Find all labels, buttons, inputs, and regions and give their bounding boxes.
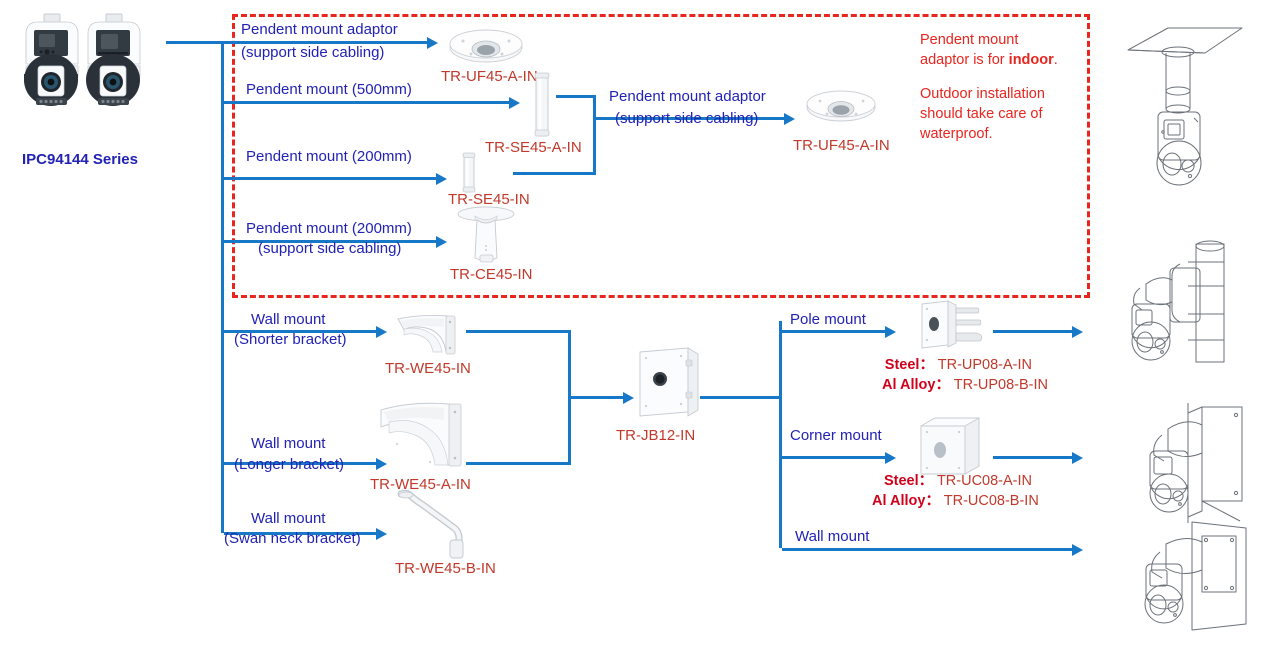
merge-top-line — [556, 95, 596, 98]
product-pole-mount — [918, 300, 986, 352]
branch-pendent-200-cable-label: Pendent mount (200mm) — [246, 220, 412, 238]
branch-wall-swan-label: Wall mount — [251, 510, 325, 528]
product-uf45a-mid — [805, 88, 877, 126]
branch-pendent-500-arrow — [509, 97, 520, 109]
pole-out-line — [993, 330, 1072, 333]
main-trunk-line — [221, 41, 224, 533]
pole-steel-value: TR-UP08-A-IN — [938, 357, 1032, 373]
product-jb12 — [636, 346, 702, 418]
branch-pendent-200-cable-arrow — [436, 236, 447, 248]
pole-alloy-value: TR-UP08-B-IN — [954, 377, 1048, 393]
corner-mount-line — [782, 456, 885, 459]
camera-illustration: uñv uñv — [8, 8, 168, 148]
se45a-pendant-tube-icon — [531, 72, 553, 138]
diagram-canvas: uñv uñv — [0, 0, 1271, 647]
ceiling-install-drawing — [1110, 20, 1260, 210]
merge-right-vline — [593, 95, 596, 175]
wall-mount-out-label: Wall mount — [795, 528, 869, 546]
label-ce45: TR-CE45-IN — [450, 266, 533, 284]
corner-out-arrow — [1072, 452, 1083, 464]
install-illustration-ceiling — [1110, 20, 1260, 210]
product-se45a — [531, 72, 553, 138]
branch-pendent-200-line — [224, 177, 436, 180]
product-we45b — [397, 490, 467, 560]
branch-wall-shorter-arrow — [376, 326, 387, 338]
note-line1a: Pendent mount — [920, 32, 1018, 48]
branch-wall-shorter-label: Wall mount — [251, 311, 325, 329]
jb12-in-arrow — [623, 392, 634, 404]
indoor-warning-note: Pendent mount adaptor is for indoor. Out… — [920, 30, 1080, 144]
se45-pendant-tube-icon — [459, 152, 479, 194]
wall-mount-out-line — [782, 548, 1072, 551]
we45a-out-line — [466, 462, 570, 465]
wall-mount-out-arrow — [1072, 544, 1083, 556]
note-line4: waterproof. — [920, 126, 993, 142]
pole-alloy-key: Al Alloy： — [882, 377, 950, 393]
corner-out-line — [993, 456, 1072, 459]
corner-mount-box-icon — [918, 416, 984, 478]
product-we45a — [375, 400, 471, 470]
pole-steel-key: Steel： — [885, 357, 934, 373]
branch-wall-swan-arrow — [376, 528, 387, 540]
we45-out-line — [466, 330, 570, 333]
pole-out-arrow — [1072, 326, 1083, 338]
we45-wall-bracket-icon — [390, 311, 466, 357]
label-we45: TR-WE45-IN — [385, 360, 471, 378]
camera-group: uñv uñv — [8, 8, 168, 148]
camera-series-label: IPC94144 Series — [22, 151, 138, 168]
pole-install-drawing — [1110, 240, 1260, 400]
branch-pendent-500-line — [224, 101, 509, 104]
ce45-ceiling-mount-icon — [455, 206, 517, 264]
pole-mount-label: Pole mount — [790, 311, 866, 329]
jb12-junction-box-icon — [636, 346, 702, 418]
branch-pendent-200-cable-sublabel: (support side cabling) — [258, 240, 401, 258]
branch-pendent-200-label: Pendent mount (200mm) — [246, 148, 412, 166]
branch-wall-shorter-sublabel: (Shorter bracket) — [234, 331, 347, 349]
corner-mount-arrow — [885, 452, 896, 464]
pole-mount-codes: Steel： TR-UP08-A-IN Al Alloy： TR-UP08-B-… — [882, 355, 1032, 395]
install-illustration-wall — [1110, 520, 1260, 650]
merge-bottom-line — [513, 172, 596, 175]
corner-alloy-value: TR-UC08-B-IN — [944, 493, 1039, 509]
note-line3: should take care of — [920, 106, 1043, 122]
pole-mount-arrow — [885, 326, 896, 338]
install-illustration-pole — [1110, 240, 1260, 400]
product-we45 — [390, 311, 466, 357]
label-jb12: TR-JB12-IN — [616, 427, 695, 445]
we45b-swan-neck-icon — [397, 490, 467, 560]
jb12-out-line — [700, 396, 782, 399]
corner-steel-key: Steel： — [884, 473, 933, 489]
label-uf45a-mid: TR-UF45-A-IN — [793, 137, 890, 155]
jb12-in-line — [568, 396, 623, 399]
uf45-adaptor-icon — [448, 27, 524, 67]
branch-pendent-200-arrow — [436, 173, 447, 185]
uf45-adaptor-mid-icon — [805, 88, 877, 126]
pole-mount-line — [782, 330, 885, 333]
we45a-wall-bracket-icon — [375, 400, 471, 470]
product-ce45 — [455, 206, 517, 264]
mid-adaptor-arrow — [784, 113, 795, 125]
corner-steel-value: TR-UC08-A-IN — [937, 473, 1032, 489]
corner-mount-codes: Steel： TR-UC08-A-IN Al Alloy： TR-UC08-B-… — [872, 471, 1032, 511]
corner-mount-label: Corner mount — [790, 427, 882, 445]
branch-wall-longer-sublabel: (Longer bracket) — [234, 456, 344, 474]
product-se45 — [459, 152, 479, 194]
branch-wall-swan-sublabel: (Swan neck bracket) — [224, 530, 361, 548]
corner-alloy-key: Al Alloy： — [872, 493, 940, 509]
pole-mount-bracket-icon — [918, 300, 986, 352]
camera-trunk-stub — [166, 41, 224, 44]
branch-pendent-adaptor-label: Pendent mount adaptor — [241, 21, 398, 39]
wall-install-drawing — [1110, 520, 1260, 650]
note-line1b: adaptor is for — [920, 52, 1009, 68]
branch-wall-longer-label: Wall mount — [251, 435, 325, 453]
mid-adaptor-label: Pendent mount adaptor — [609, 88, 766, 106]
branch-pendent-500-label: Pendent mount (500mm) — [246, 81, 412, 99]
branch-pendent-adaptor-arrow — [427, 37, 438, 49]
product-uf45a-top — [448, 27, 524, 67]
label-uf45a-top: TR-UF45-A-IN — [441, 68, 538, 86]
note-line2: Outdoor installation — [920, 86, 1045, 102]
note-line1end: . — [1054, 52, 1058, 68]
label-we45b: TR-WE45-B-IN — [395, 560, 496, 578]
right-bus-vline — [779, 321, 782, 548]
note-indoor-bold: indoor — [1009, 52, 1054, 68]
mid-adaptor-sublabel: (support side cabling) — [615, 110, 758, 128]
product-corner-mount — [918, 416, 984, 478]
label-se45a: TR-SE45-A-IN — [485, 139, 582, 157]
branch-pendent-adaptor-sublabel: (support side cabling) — [241, 44, 384, 62]
